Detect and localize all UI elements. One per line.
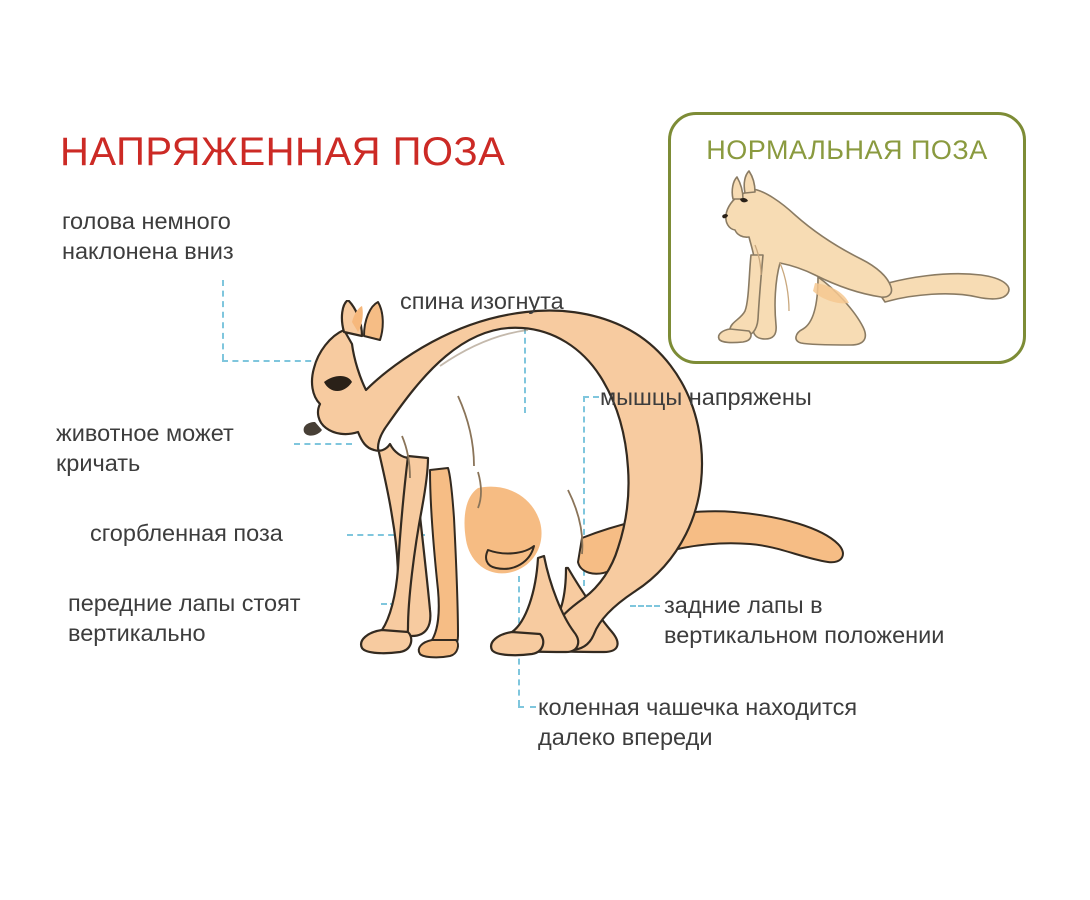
label-hind-paws: задние лапы в вертикальном положении xyxy=(664,590,1044,650)
label-hunched-posture: сгорбленная поза xyxy=(90,518,350,548)
infographic-page: НАПРЯЖЕННАЯ ПОЗА НОРМАЛЬНАЯ ПОЗА xyxy=(0,0,1090,900)
label-kneecap: коленная чашечка находится далеко вперед… xyxy=(538,692,1008,752)
label-muscles-tense: мышцы напряжены xyxy=(600,382,900,412)
connector-kneecap-horizontal xyxy=(518,706,536,708)
label-back-arched: спина изогнута xyxy=(400,286,640,316)
connector-head-down-vertical xyxy=(222,280,224,360)
label-head-down: голова немного наклонена вниз xyxy=(62,206,322,266)
page-title: НАПРЯЖЕННАЯ ПОЗА xyxy=(60,130,505,175)
label-front-paws: передние лапы стоят вертикально xyxy=(68,588,388,648)
label-animal-may-cry: животное может кричать xyxy=(56,418,306,478)
